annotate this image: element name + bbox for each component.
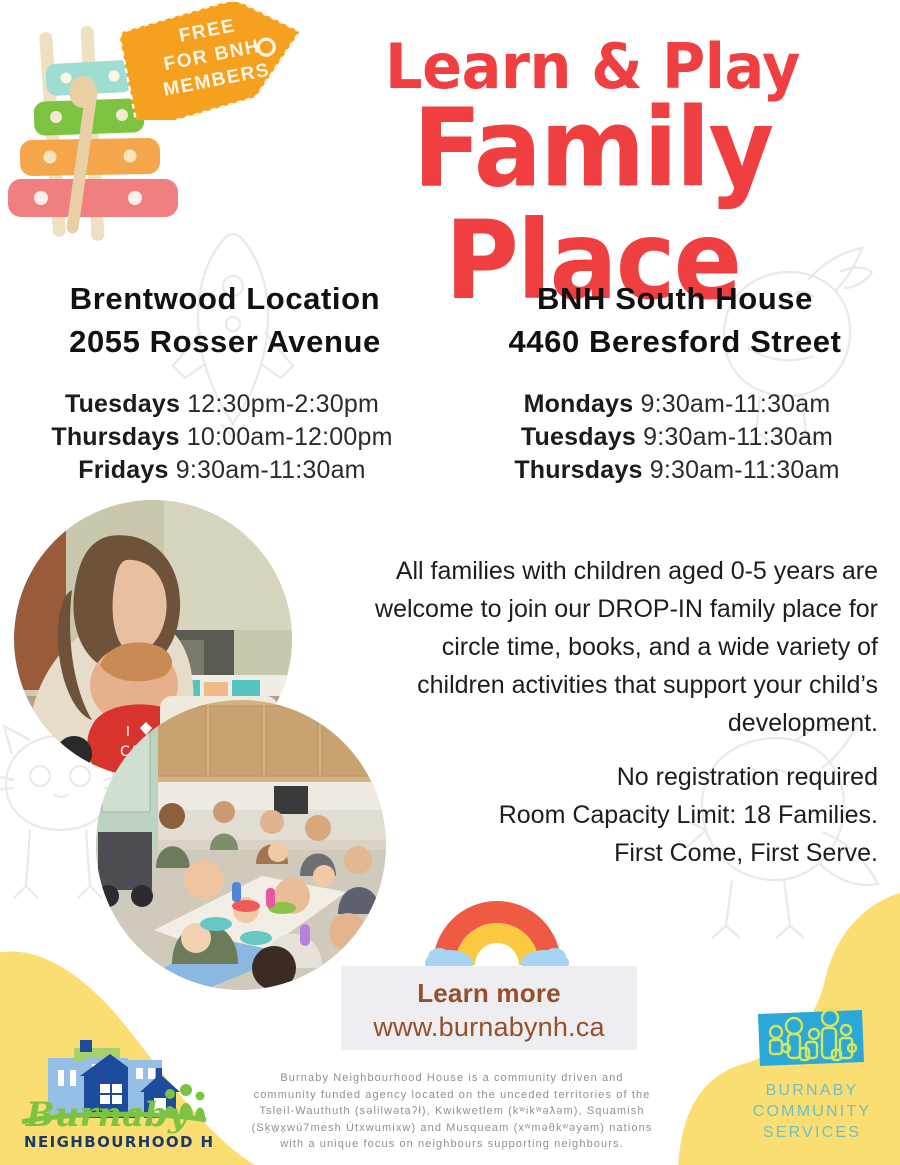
- disclaimer-line-3: Tsleil-Wauthuth (səl̇ilẉətaʔł), Kwikwet…: [196, 1103, 708, 1120]
- hours-row: Tuesdays 9:30am-11:30am: [450, 421, 900, 454]
- hours-row: Thursdays 10:00am-12:00pm: [0, 421, 450, 454]
- location-name: BNH South House: [450, 277, 900, 320]
- disclaimer-line-5: with a unique focus on neighbours suppor…: [196, 1136, 708, 1153]
- location-address: 2055 Rosser Avenue: [0, 320, 450, 363]
- burnaby-neighbourhood-house-logo: Burnaby NEIGHBOURHOOD HOUSE: [14, 1040, 214, 1152]
- locations-section: Brentwood Location 2055 Rosser Avenue Tu…: [0, 277, 900, 487]
- hours-day: Thursdays: [514, 456, 642, 484]
- poster-canvas: FREE FOR BNH MEMBERS Learn & Play Family…: [0, 0, 900, 1165]
- hours-time: 12:30pm-2:30pm: [187, 390, 379, 418]
- disclaimer-line-4: (Sḵw̱x̱wú7mesh Útxwumixw) and Musqueam (…: [196, 1120, 708, 1137]
- bcs-line-3: SERVICES: [736, 1122, 888, 1143]
- capacity-notes: No registration required Room Capacity L…: [372, 758, 878, 872]
- hours-time: 9:30am-11:30am: [176, 456, 366, 484]
- bnh-subtitle: NEIGHBOURHOOD HOUSE: [24, 1133, 214, 1151]
- hours-row: Mondays 9:30am-11:30am: [450, 388, 900, 421]
- hours-time: 9:30am-11:30am: [650, 456, 840, 484]
- land-acknowledgement-text: Burnaby Neighbourhood House is a communi…: [196, 1070, 708, 1153]
- location-name: Brentwood Location: [0, 277, 450, 320]
- bcs-line-1: BURNABY: [736, 1080, 888, 1101]
- bcs-line-2: COMMUNITY: [736, 1101, 888, 1122]
- rainbow-icon: [423, 893, 571, 973]
- hours-time: 9:30am-11:30am: [643, 423, 833, 451]
- poster-title: Learn & Play Family Place: [300, 36, 885, 308]
- learn-more-box[interactable]: Learn more www.burnabynh.ca: [341, 966, 637, 1050]
- photo-group-family-place: [96, 700, 386, 990]
- note-line-3: First Come, First Serve.: [372, 834, 878, 872]
- hours-day: Fridays: [78, 456, 168, 484]
- hours-row: Thursdays 9:30am-11:30am: [450, 454, 900, 487]
- location-south-house: BNH South House 4460 Beresford Street Mo…: [450, 277, 900, 487]
- location-brentwood: Brentwood Location 2055 Rosser Avenue Tu…: [0, 277, 450, 487]
- hours-day: Tuesdays: [521, 423, 636, 451]
- location-hours: Mondays 9:30am-11:30am Tuesdays 9:30am-1…: [450, 388, 900, 487]
- svg-text:I: I: [126, 725, 130, 740]
- hours-row: Fridays 9:30am-11:30am: [0, 454, 450, 487]
- note-line-2: Room Capacity Limit: 18 Families.: [372, 796, 878, 834]
- burnaby-community-services-logo: [756, 1008, 866, 1070]
- note-line-1: No registration required: [372, 758, 878, 796]
- hours-day: Tuesdays: [65, 390, 180, 418]
- website-url-link[interactable]: www.burnabynh.ca: [341, 1008, 637, 1043]
- disclaimer-line-1: Burnaby Neighbourhood House is a communi…: [196, 1070, 708, 1087]
- location-address: 4460 Beresford Street: [450, 320, 900, 363]
- learn-more-label: Learn more: [341, 966, 637, 1008]
- hours-day: Mondays: [524, 390, 634, 418]
- hours-day: Thursdays: [51, 423, 179, 451]
- hours-row: Tuesdays 12:30pm-2:30pm: [0, 388, 450, 421]
- hours-time: 10:00am-12:00pm: [187, 423, 393, 451]
- bnh-script-word: Burnaby: [25, 1095, 190, 1135]
- disclaimer-line-2: community funded agency located on the u…: [196, 1087, 708, 1104]
- bcs-logo-text: BURNABY COMMUNITY SERVICES: [736, 1080, 888, 1143]
- body-paragraph: All families with children aged 0-5 year…: [372, 552, 878, 742]
- location-hours: Tuesdays 12:30pm-2:30pm Thursdays 10:00a…: [0, 388, 450, 487]
- hours-time: 9:30am-11:30am: [640, 390, 830, 418]
